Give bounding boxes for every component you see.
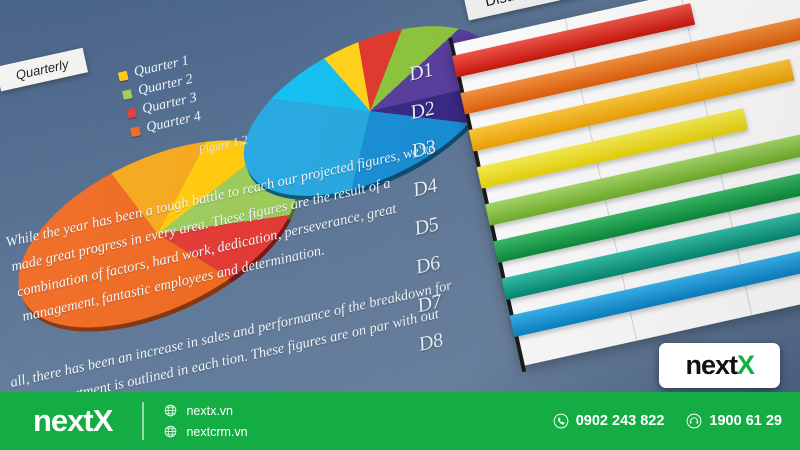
footer-phone-hotline[interactable]: 1900 61 29 <box>686 413 782 429</box>
footer-divider <box>142 402 144 440</box>
footer-link-label: nextx.vn <box>186 404 233 418</box>
phone-icon <box>553 413 569 429</box>
footer-link-nextcrm[interactable]: nextcrm.vn <box>164 425 247 439</box>
footer-phone-number: 0902 243 822 <box>576 413 665 429</box>
globe-icon <box>164 404 177 417</box>
badge-logo-accent: X <box>737 350 754 380</box>
footer-phones: 0902 243 822 1900 61 29 <box>553 413 782 429</box>
hotline-icon <box>686 413 702 429</box>
screenshot-stage: management, Quarterly Quarter 1 Quarter … <box>0 0 800 450</box>
legend-quarterly: Quarter 1 Quarter 2 Quarter 3 Quarter 4 <box>117 53 203 143</box>
footer-logo: nextX <box>33 403 112 439</box>
badge-logo-main: next <box>685 350 737 380</box>
footer-logo-main: next <box>33 403 93 438</box>
footer-link-nextx[interactable]: nextx.vn <box>164 404 247 418</box>
footer-phone-number: 1900 61 29 <box>709 413 782 429</box>
legend-swatch-icon <box>118 70 129 81</box>
district-performance-chart <box>450 0 800 366</box>
quarterly-label-tab: Quarterly <box>0 48 88 92</box>
footer-links: nextx.vn nextcrm.vn <box>164 404 247 439</box>
footer-logo-accent: X <box>93 403 113 438</box>
footer-bar: nextX nextx.vn <box>0 392 800 450</box>
footer-phone-mobile[interactable]: 0902 243 822 <box>553 413 665 429</box>
footer-link-label: nextcrm.vn <box>186 425 247 439</box>
legend-swatch-icon <box>126 107 137 118</box>
legend-swatch-icon <box>122 89 133 100</box>
globe-icon <box>164 425 177 438</box>
nextx-badge: nextX <box>659 343 780 388</box>
legend-swatch-icon <box>130 126 141 137</box>
